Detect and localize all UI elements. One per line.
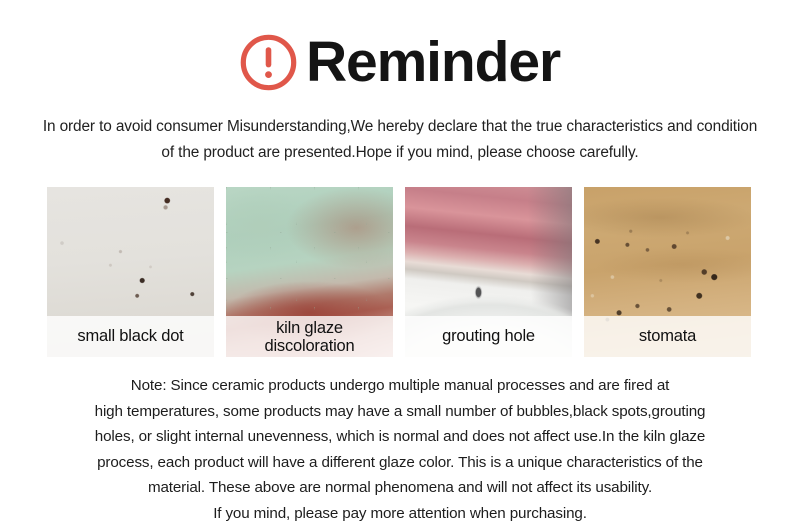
subtitle-line-1: In order to avoid consumer Misunderstand… (28, 114, 772, 140)
defect-card-stomata: stomata (584, 187, 751, 357)
note-line-1: Note: Since ceramic products undergo mul… (24, 373, 776, 399)
page-header: Reminder (0, 26, 800, 98)
note-line-2: high temperatures, some products may hav… (24, 399, 776, 425)
reminder-page: Reminder In order to avoid consumer Misu… (0, 0, 800, 524)
stomata-caption: stomata (584, 316, 751, 357)
grouting-hole-caption: grouting hole (405, 316, 572, 357)
page-title: Reminder (306, 34, 560, 91)
defect-card-small-black-dot: small black dot (47, 187, 214, 357)
note-line-5: material. These above are normal phenome… (24, 475, 776, 501)
defect-card-grouting-hole: grouting hole (405, 187, 572, 357)
footer-note: Note: Since ceramic products undergo mul… (24, 373, 776, 524)
caption-line-1: kiln glaze (276, 319, 343, 337)
caption-line-2: discoloration (264, 337, 354, 355)
subtitle-block: In order to avoid consumer Misunderstand… (28, 114, 772, 166)
kiln-glaze-discoloration-caption: kiln glaze discoloration (226, 316, 393, 357)
exclamation-circle-icon (240, 34, 297, 91)
note-line-3: holes, or slight internal unevenness, wh… (24, 424, 776, 450)
small-black-dot-caption: small black dot (47, 316, 214, 357)
defect-card-list: small black dot kiln glaze discoloration… (47, 187, 753, 357)
note-line-6: If you mind, please pay more attention w… (24, 501, 776, 524)
defect-card-kiln-glaze-discoloration: kiln glaze discoloration (226, 187, 393, 357)
subtitle-line-2: of the product are presented.Hope if you… (28, 140, 772, 166)
note-line-4: process, each product will have a differ… (24, 450, 776, 476)
